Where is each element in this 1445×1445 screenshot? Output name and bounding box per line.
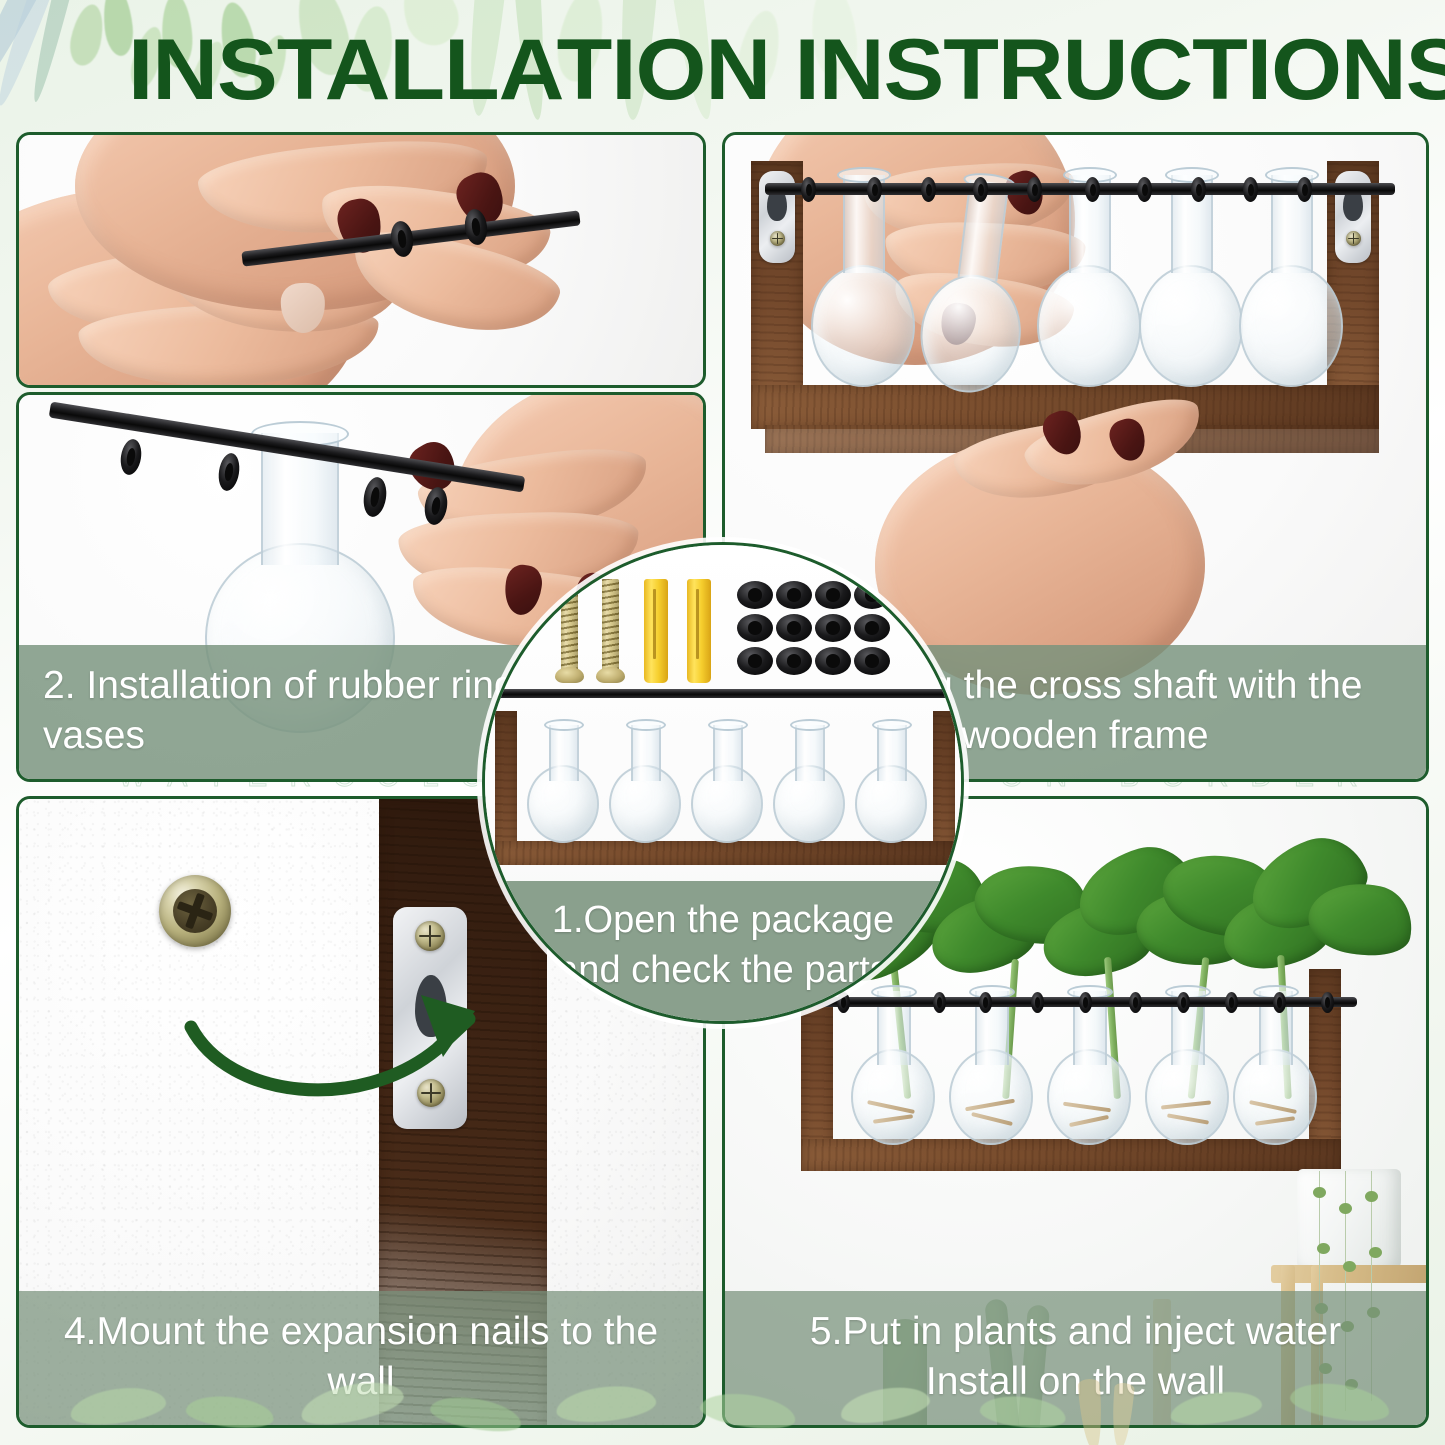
page-title: INSTALLATION INSTRUCTIONS — [128, 22, 1445, 118]
vase-lip — [837, 167, 891, 183]
rubber-ring — [1079, 992, 1092, 1013]
leaf-decoration — [185, 1392, 276, 1431]
screw-threads — [602, 579, 619, 673]
screw-head — [555, 667, 584, 683]
rubber-ring — [1273, 992, 1286, 1013]
panel-step-2a — [16, 132, 706, 388]
screw — [561, 579, 578, 673]
rubber-ring — [1129, 992, 1142, 1013]
rubber-ring — [1137, 177, 1152, 202]
rubber-ring — [776, 614, 812, 642]
wall-anchor-slit — [696, 589, 699, 659]
rubber-ring — [1027, 177, 1042, 202]
rubber-ring — [854, 614, 890, 642]
photo-rings-on-rod — [19, 135, 703, 385]
rubber-ring — [973, 177, 988, 202]
vase-lip — [872, 719, 912, 731]
rubber-ring — [867, 177, 882, 202]
panel-step-1: 1.Open the package and check the parts — [482, 542, 964, 1024]
rubber-ring — [1225, 992, 1238, 1013]
bracket-screw — [1346, 231, 1361, 246]
glass-vase — [609, 719, 681, 843]
rubber-ring — [776, 581, 812, 609]
infographic-page: INSTALLATION INSTRUCTIONS WATERCOLOR ON … — [0, 0, 1445, 1445]
vase-lip — [790, 719, 830, 731]
rubber-ring — [921, 177, 936, 202]
vase-bulb — [914, 269, 1028, 398]
vase-lip — [708, 719, 748, 731]
bottom-decoration — [0, 1375, 1445, 1445]
glass-vase — [811, 165, 915, 387]
leaf-decoration — [1109, 1382, 1135, 1445]
wall-anchor — [644, 579, 668, 683]
rubber-ring — [1321, 992, 1334, 1013]
decor-leaf — [1365, 1191, 1378, 1202]
decor-leaf — [1369, 1247, 1382, 1258]
wooden-frame-base — [495, 841, 955, 865]
metal-rod — [485, 689, 961, 698]
vase-neck — [713, 725, 743, 781]
leaf-decoration — [698, 1388, 798, 1433]
vase-lip — [626, 719, 666, 731]
bracket-screw — [770, 231, 785, 246]
vase-neck — [631, 725, 661, 781]
rubber-ring — [1243, 177, 1258, 202]
rubber-ring — [1177, 992, 1190, 1013]
glass-vase — [527, 719, 599, 843]
rubber-ring — [815, 581, 851, 609]
screw — [602, 579, 619, 673]
glass-vase — [1139, 165, 1243, 387]
rubber-ring — [737, 647, 773, 675]
rubber-ring — [854, 647, 890, 675]
rubber-ring — [737, 614, 773, 642]
leaf-decoration — [979, 1393, 1068, 1432]
leaf-decoration — [1168, 1387, 1263, 1430]
vase-neck — [877, 725, 907, 781]
rubber-ring — [1085, 177, 1100, 202]
wooden-frame-left-post — [495, 711, 517, 861]
decor-leaf — [1343, 1261, 1356, 1272]
glass-vase — [773, 719, 845, 843]
wooden-frame-right-post — [933, 711, 955, 861]
glass-vase — [855, 719, 927, 843]
rubber-ring — [776, 647, 812, 675]
leaf-decoration — [297, 1375, 406, 1431]
vase-neck — [549, 725, 579, 781]
wall-anchor-slit — [653, 589, 656, 659]
rubber-ring — [854, 581, 890, 609]
vase-bulb — [1139, 265, 1243, 387]
vase-lip — [544, 719, 584, 731]
vase-neck — [795, 725, 825, 781]
screw-head — [596, 667, 625, 683]
vase-bulb — [1239, 265, 1343, 387]
vase-bulb — [811, 265, 915, 387]
vase-lip — [1265, 167, 1319, 183]
screw-threads — [561, 579, 578, 673]
leaf-decoration — [428, 1391, 524, 1437]
rubber-ring — [1297, 177, 1312, 202]
leaf-decoration — [1288, 1377, 1392, 1426]
leaf-decoration — [1078, 1378, 1105, 1445]
vase-bulb — [1037, 265, 1141, 387]
caption-step-5-line-1: 5.Put in plants and inject water — [749, 1307, 1402, 1357]
rubber-ring — [815, 614, 851, 642]
decor-leaf — [1339, 1203, 1352, 1214]
rubber-ring — [801, 177, 816, 202]
rubber-ring — [815, 647, 851, 675]
decor-leaf — [1313, 1187, 1326, 1198]
leaf-decoration — [838, 1381, 932, 1428]
caption-step-1: 1.Open the package and check the parts — [485, 881, 961, 1021]
rubber-ring — [1031, 992, 1044, 1013]
rubber-ring — [979, 992, 992, 1013]
leaf-decoration — [66, 2, 108, 69]
rubber-ring — [1191, 177, 1206, 202]
rubber-ring — [737, 581, 773, 609]
wall-anchor — [687, 579, 711, 683]
leaf-decoration — [554, 1382, 657, 1426]
glass-vase — [691, 719, 763, 843]
leaf-decoration — [68, 1382, 168, 1429]
header: INSTALLATION INSTRUCTIONS — [0, 0, 1445, 128]
decor-leaf — [1317, 1243, 1330, 1254]
